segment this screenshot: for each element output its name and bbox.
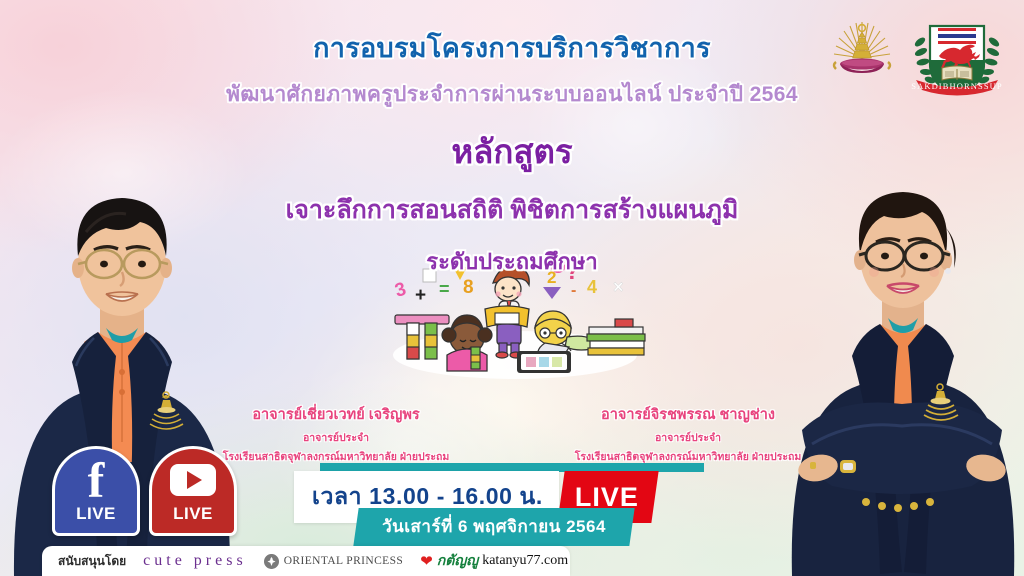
speaker-1-name: อาจารย์เชี่ยวเวทย์ เจริญพร	[186, 403, 486, 426]
katanyu-thai-label: กตัญญู	[437, 550, 478, 572]
sponsor-cute-press: cute press	[143, 552, 247, 570]
heart-icon: ❤	[420, 552, 433, 570]
sponsor-katanyu: ❤ กตัญญู katanyu77.com	[420, 550, 568, 572]
date-banner: วันเสาร์ที่ 6 พฤศจิกายน 2564	[353, 508, 634, 546]
supported-by-label: สนับสนุนโดย	[58, 552, 126, 571]
svg-text:3: 3	[393, 279, 409, 302]
facebook-live-button[interactable]: f LIVE	[52, 446, 140, 536]
svg-text:=: =	[439, 279, 450, 299]
logo-group: SAKDIBHORNSSUP	[830, 14, 1006, 106]
speaker-1-role: อาจารย์ประจำ	[186, 429, 486, 446]
svg-text:8: 8	[463, 277, 474, 298]
oriental-princess-label: ORIENTAL PRINCESS	[284, 555, 404, 567]
youtube-live-label: LIVE	[173, 504, 213, 524]
youtube-play-icon	[170, 458, 216, 502]
live-button-group: f LIVE LIVE	[52, 446, 237, 536]
facebook-live-label: LIVE	[76, 504, 116, 524]
oriental-princess-mark-icon	[264, 554, 279, 569]
svg-text:+: +	[415, 285, 426, 306]
katanyu-url-label: katanyu77.com	[482, 553, 568, 569]
sponsor-oriental-princess: ORIENTAL PRINCESS	[264, 554, 404, 569]
female-presenter-photo	[778, 168, 1024, 576]
speaker-caption-2: อาจารย์จิรชพรรณ ชาญช่าง อาจารย์ประจำ โรง…	[538, 403, 838, 465]
date-text: วันเสาร์ที่ 6 พฤศจิกายน 2564	[382, 513, 606, 540]
youtube-live-button[interactable]: LIVE	[149, 446, 237, 536]
svg-text:×: ×	[613, 277, 624, 297]
speaker-2-name: อาจารย์จิรชพรรณ ชาญช่าง	[538, 403, 838, 426]
school-logo-ribbon-text: SAKDIBHORNSSUP	[911, 81, 1002, 91]
sakdibhornssup-shield-logo: SAKDIBHORNSSUP	[908, 14, 1006, 106]
svg-text:-: -	[571, 282, 576, 299]
facebook-icon: f	[88, 458, 105, 502]
svg-text:4: 4	[587, 277, 597, 297]
speaker-2-role: อาจารย์ประจำ	[538, 429, 838, 446]
poster-canvas: SAKDIBHORNSSUP การอบรมโครงการบริการวิชาก…	[0, 0, 1024, 576]
sponsor-footer-bar: สนับสนุนโดย cute press ORIENTAL PRINCESS…	[42, 546, 570, 576]
chulalongkorn-crest-logo	[830, 14, 894, 106]
